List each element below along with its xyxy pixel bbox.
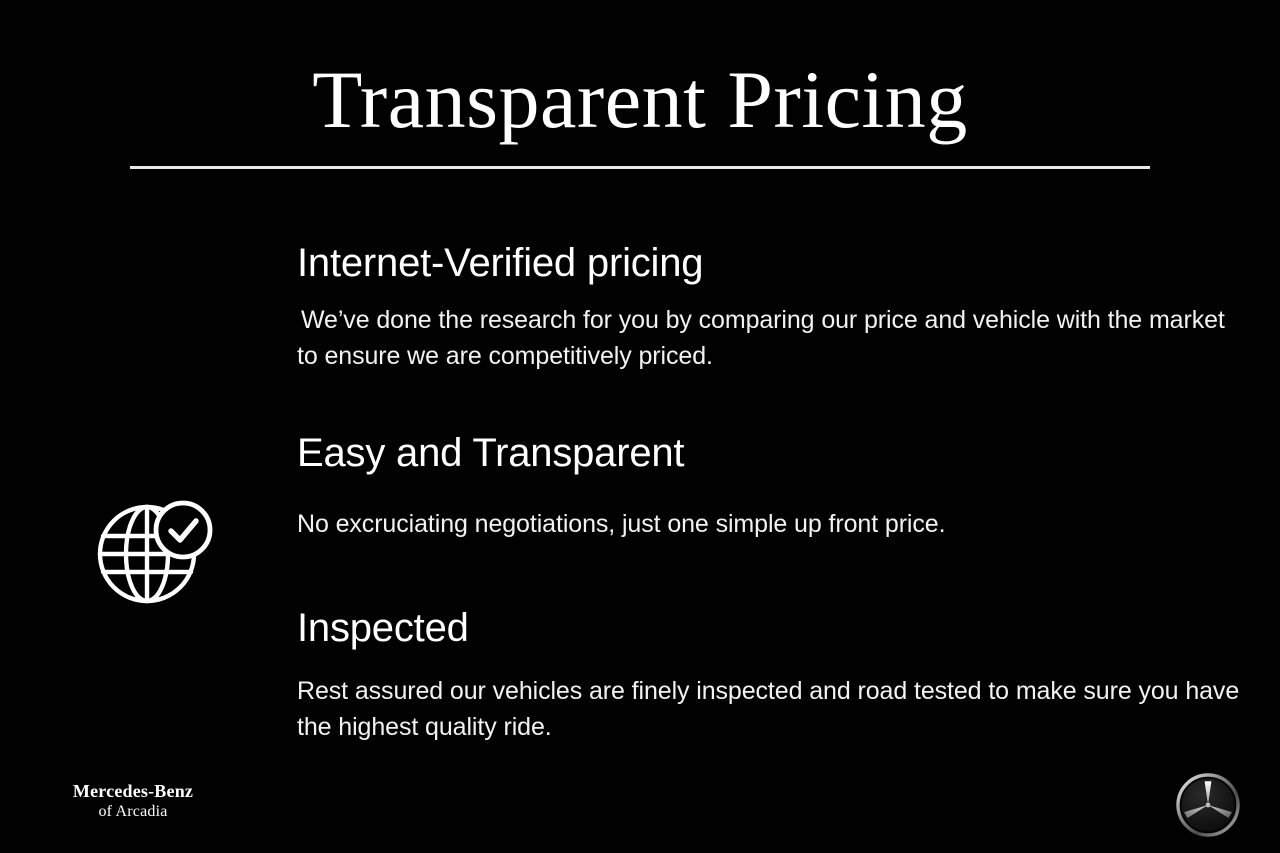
feature-body: Inspected Rest assured our vehicles are …: [297, 605, 1247, 745]
dealer-location: of Arcadia: [38, 802, 228, 822]
feature-body: Internet-Verified pricing We’ve done the…: [297, 240, 1247, 374]
feature-description: We’ve done the research for you by compa…: [297, 302, 1247, 374]
dealer-wordmark: Mercedes-Benz of Arcadia: [38, 780, 228, 822]
feature-heading: Inspected: [297, 605, 1247, 651]
title-divider: [130, 166, 1150, 169]
feature-internet-verified-pricing: Internet-Verified pricing We’ve done the…: [0, 240, 1280, 390]
dealer-name: Mercedes-Benz: [38, 780, 228, 802]
feature-description: Rest assured our vehicles are finely ins…: [297, 673, 1247, 745]
feature-heading: Easy and Transparent: [297, 430, 1247, 476]
mercedes-star-icon: [1175, 772, 1241, 838]
feature-heading: Internet-Verified pricing: [297, 240, 1247, 286]
feature-inspected: Inspected Rest assured our vehicles are …: [0, 605, 1280, 755]
feature-body: Easy and Transparent No excruciating neg…: [297, 430, 1247, 542]
feature-easy-and-transparent: Easy and Transparent No excruciating neg…: [0, 430, 1280, 580]
transparent-pricing-slide: Transparent Pricing Internet-Verified pr…: [0, 0, 1280, 853]
page-title: Transparent Pricing: [0, 52, 1280, 148]
feature-description: No excruciating negotiations, just one s…: [297, 506, 1247, 542]
